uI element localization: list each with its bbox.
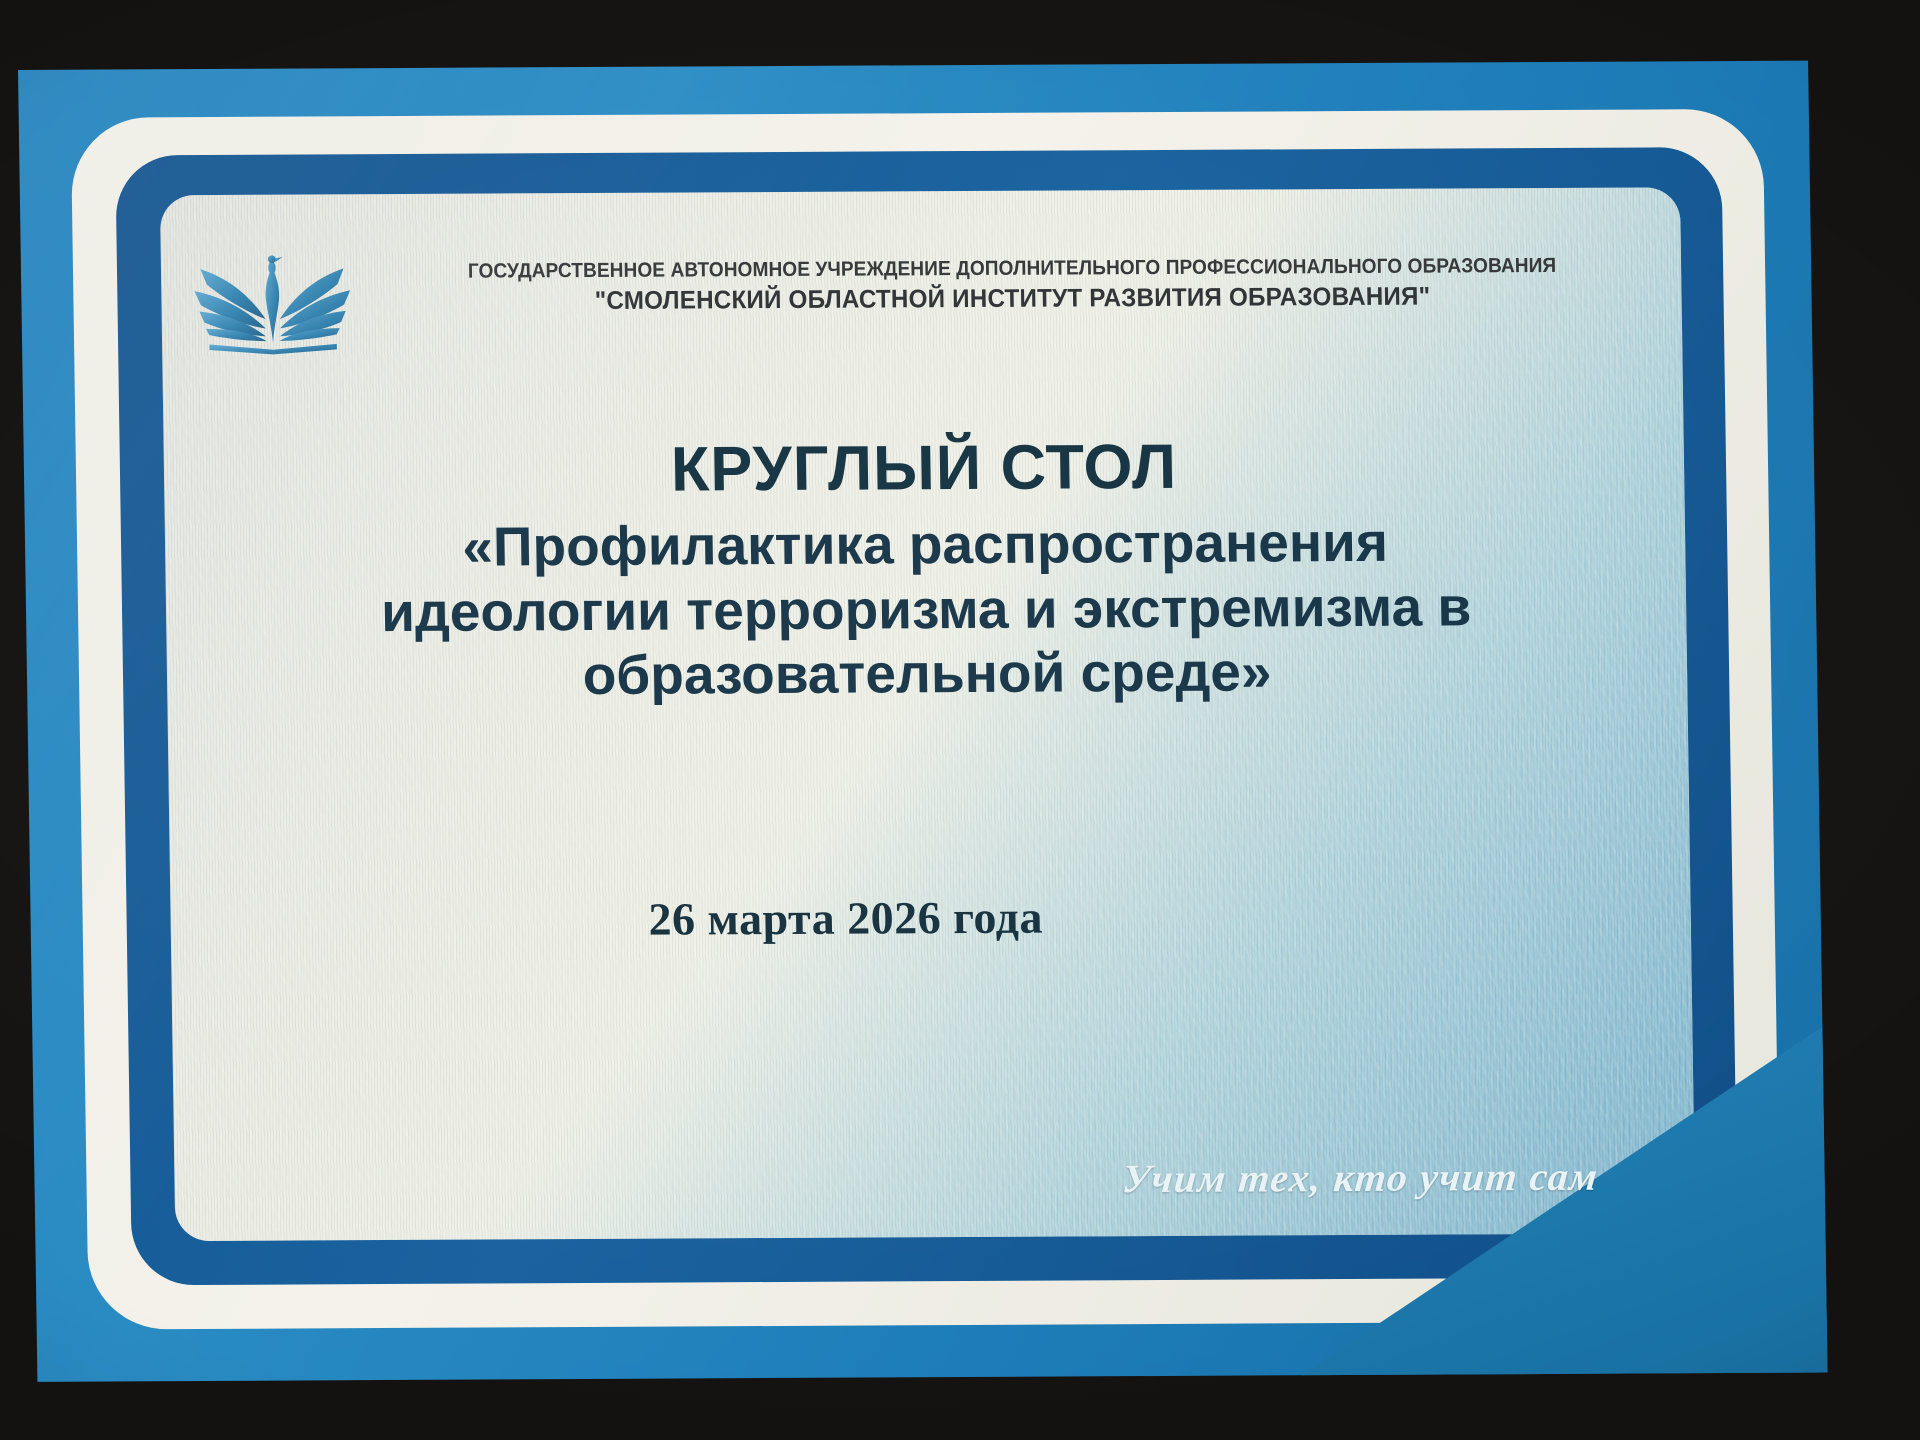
slide-title-block: КРУГЛЫЙ СТОЛ «Профилактика распространен… — [164, 432, 1688, 709]
event-title-heading: «Профилактика распространения идеологии … — [225, 509, 1628, 709]
institute-slogan: Учим тех, кто учит сам — [1121, 1153, 1601, 1203]
organization-line-1: ГОСУДАРСТВЕННОЕ АВТОНОМНОЕ УЧРЕЖДЕНИЕ ДО… — [427, 254, 1597, 284]
event-date: 26 марта 2026 года — [170, 887, 1691, 948]
slide-content-panel: ГОСУДАРСТВЕННОЕ АВТОНОМНОЕ УЧРЕЖДЕНИЕ ДО… — [160, 187, 1696, 1241]
slide-outer-blue-frame: ГОСУДАРСТВЕННОЕ АВТОНОМНОЕ УЧРЕЖДЕНИЕ ДО… — [18, 61, 1828, 1382]
swan-book-logo-icon — [187, 246, 359, 365]
event-type-heading: КРУГЛЫЙ СТОЛ — [224, 433, 1625, 505]
presentation-slide: ГОСУДАРСТВЕННОЕ АВТОНОМНОЕ УЧРЕЖДЕНИЕ ДО… — [18, 61, 1828, 1382]
event-title-line-3: образовательной среде» — [247, 638, 1608, 709]
organization-name-block: ГОСУДАРСТВЕННОЕ АВТОНОМНОЕ УЧРЕЖДЕНИЕ ДО… — [383, 239, 1642, 317]
screen-photo-background: ГОСУДАРСТВЕННОЕ АВТОНОМНОЕ УЧРЕЖДЕНИЕ ДО… — [0, 0, 1920, 1440]
slide-header: ГОСУДАРСТВЕННОЕ АВТОНОМНОЕ УЧРЕЖДЕНИЕ ДО… — [187, 239, 1643, 365]
event-title-line-2: идеологии терроризма и экстремизма в — [246, 573, 1607, 644]
organization-line-2: "СМОЛЕНСКИЙ ОБЛАСТНОЙ ИНСТИТУТ РАЗВИТИЯ … — [415, 282, 1611, 317]
event-title-line-1: «Профилактика распространения — [245, 509, 1606, 580]
